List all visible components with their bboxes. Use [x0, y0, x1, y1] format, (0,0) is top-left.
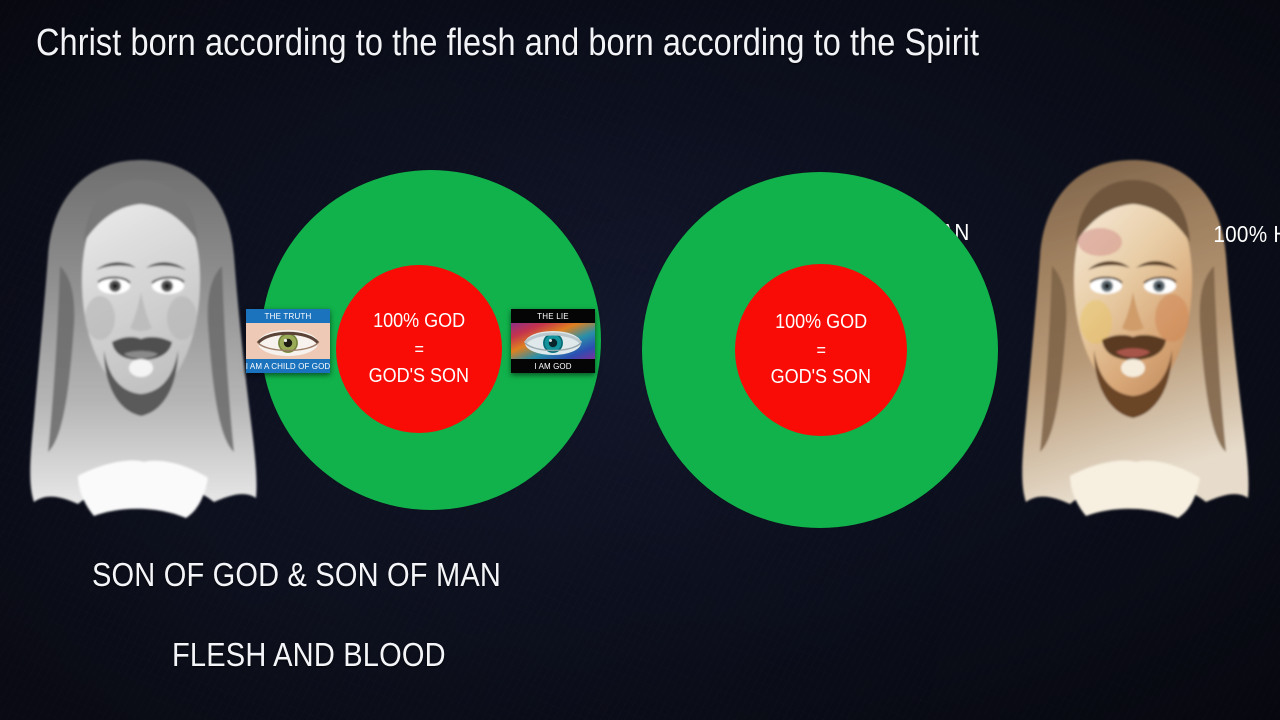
venn-inner-circle-left: 100% GOD = GOD'S SON	[336, 265, 502, 433]
venn-inner-circle-right: 100% GOD = GOD'S SON	[735, 264, 907, 436]
venn-inner-line-3-left: GOD'S SON	[369, 362, 469, 391]
venn-inner-text-left: 100% GOD = GOD'S SON	[336, 265, 502, 433]
venn-inner-line-1-left: 100% GOD	[373, 307, 465, 336]
venn-inner-line-2-left: =	[414, 336, 423, 362]
badge-the-lie[interactable]: THE LIE	[511, 309, 595, 373]
christ-portrait-grayscale	[8, 146, 274, 528]
venn-inner-line-3-right: GOD'S SON	[771, 363, 871, 392]
slide-canvas: Christ born according to the flesh and b…	[0, 0, 1280, 720]
badge-truth-footer: I AM A CHILD OF GOD	[246, 359, 330, 373]
venn-inner-text-right: 100% GOD = GOD'S SON	[735, 264, 907, 436]
venn-inner-line-1-right: 100% GOD	[775, 308, 867, 337]
green-eye-icon	[246, 323, 330, 359]
painted-eye-icon	[511, 323, 595, 359]
caption-son-of-god-and-son-of-man: SON OF GOD & SON OF MAN	[92, 556, 501, 594]
badge-the-truth[interactable]: THE TRUTH I AM A CHILD OF GOD	[246, 309, 330, 373]
venn-inner-line-2-right: =	[816, 337, 825, 363]
page-title: Christ born according to the flesh and b…	[36, 22, 1071, 66]
badge-lie-heading: THE LIE	[511, 309, 595, 323]
badge-lie-footer: I AM GOD	[511, 359, 595, 373]
venn-label-human-right: 100% HUMAN	[706, 221, 1280, 248]
caption-flesh-and-blood: FLESH AND BLOOD	[172, 636, 446, 674]
badge-truth-heading: THE TRUTH	[246, 309, 330, 323]
christ-portrait-color	[1000, 146, 1266, 528]
